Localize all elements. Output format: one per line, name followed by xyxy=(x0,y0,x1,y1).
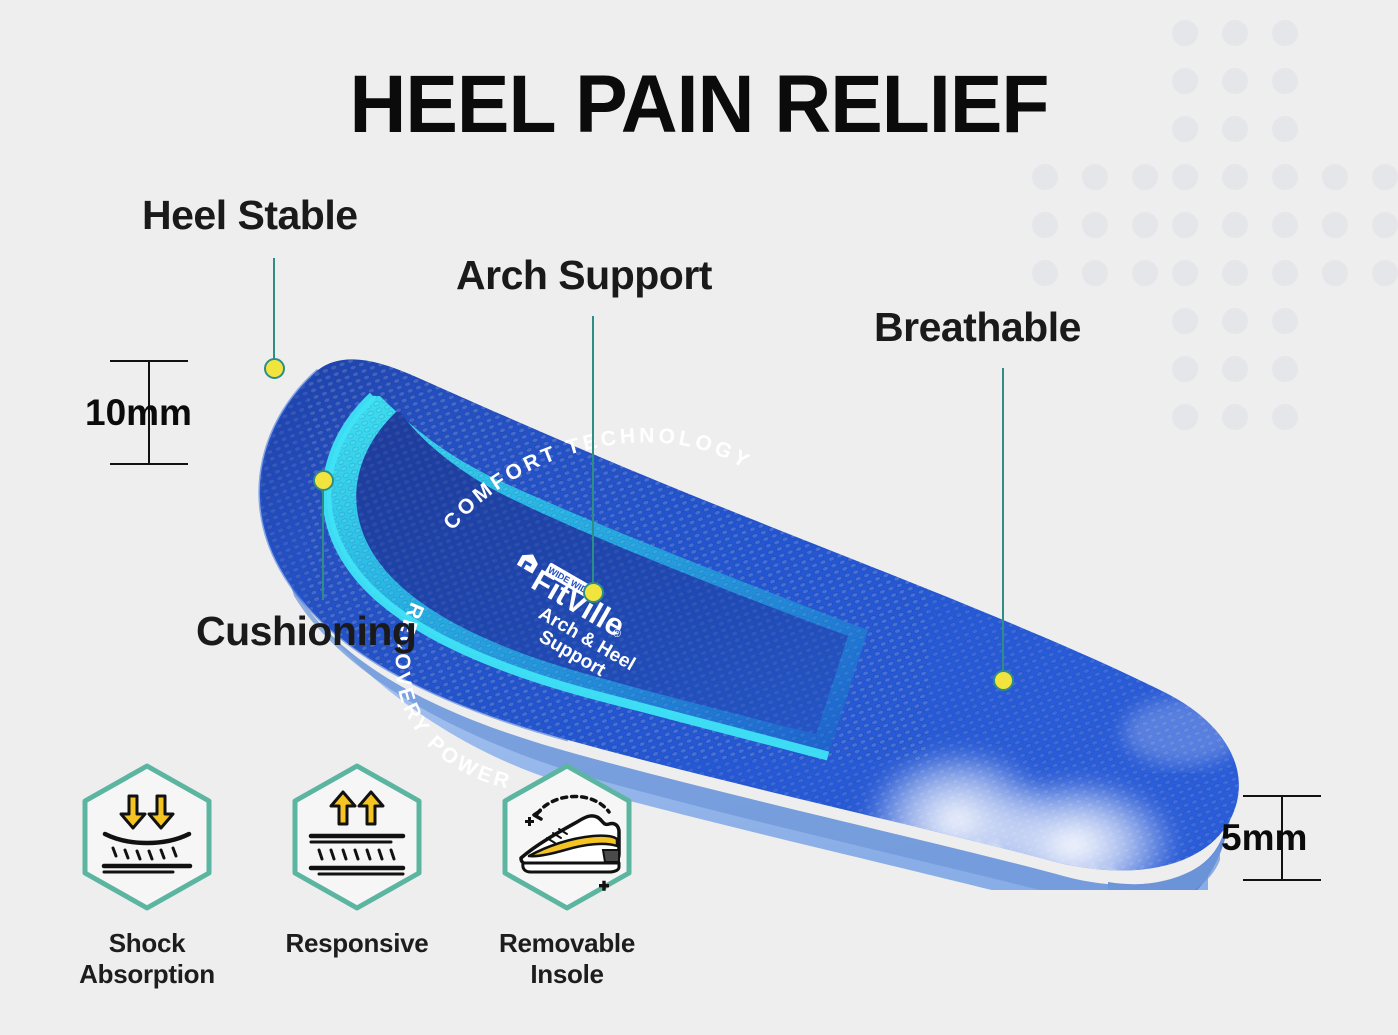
callout-dot-heel-stable xyxy=(264,358,285,379)
feature-removable-insole[interactable]: Removable Insole xyxy=(482,762,652,989)
feature-label-line2: Absorption xyxy=(62,959,232,990)
callout-label-heel-stable: Heel Stable xyxy=(142,192,358,239)
leader-line-arch-support xyxy=(592,316,594,590)
dimension-label-10mm: 10mm xyxy=(85,392,192,434)
dimension-label-5mm: 5mm xyxy=(1221,817,1307,859)
page-title: HEEL PAIN RELIEF xyxy=(28,58,1370,152)
feature-label-line1: Responsive xyxy=(272,928,442,959)
feature-label-line2: Insole xyxy=(482,959,652,990)
leader-line-breathable xyxy=(1002,368,1004,678)
callout-label-arch-support: Arch Support xyxy=(456,252,712,299)
feature-shock-absorption[interactable]: Shock Absorption xyxy=(62,762,232,989)
responsive-icon xyxy=(283,762,431,912)
feature-label-line1: Shock xyxy=(62,928,232,959)
callout-dot-arch-support xyxy=(583,582,604,603)
callout-dot-cushioning xyxy=(313,470,334,491)
callout-dot-breathable xyxy=(993,670,1014,691)
feature-label-line1: Removable xyxy=(482,928,652,959)
leader-line-cushioning xyxy=(322,488,324,600)
callout-label-cushioning: Cushioning xyxy=(196,608,416,655)
shock-absorption-icon xyxy=(73,762,221,912)
removable-insole-icon xyxy=(493,762,641,912)
feature-responsive[interactable]: Responsive xyxy=(272,762,442,959)
leader-line-heel-stable xyxy=(273,258,275,366)
callout-label-breathable: Breathable xyxy=(874,304,1081,351)
